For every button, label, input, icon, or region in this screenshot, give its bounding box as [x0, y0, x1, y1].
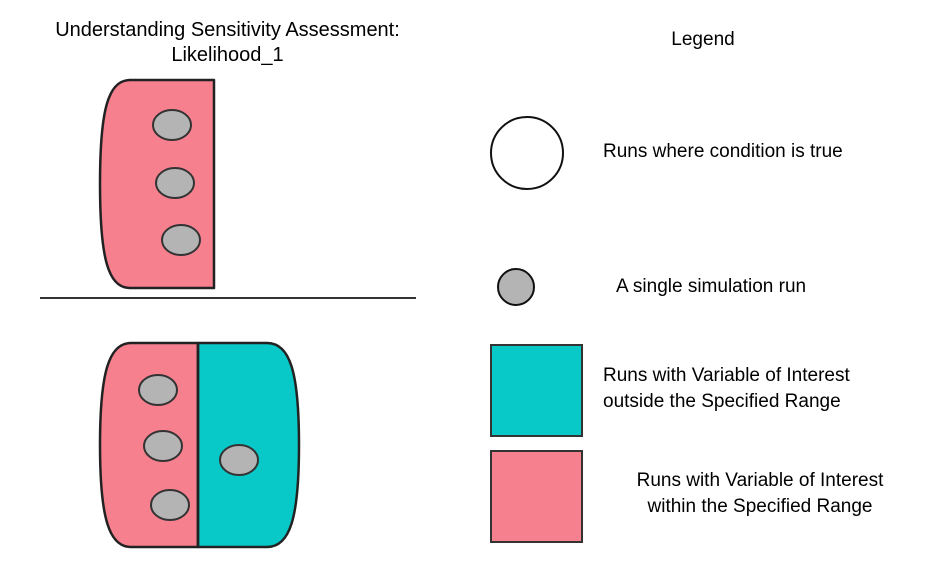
pink-square-icon: [490, 450, 583, 543]
simulation-run-dot: [156, 168, 194, 198]
simulation-run-dot: [151, 490, 189, 520]
simulation-run-dot: [220, 445, 258, 475]
legend-item-condition-true: Runs where condition is true: [470, 116, 936, 196]
hollow-circle-icon: [490, 116, 564, 190]
legend-title: Legend: [470, 28, 936, 51]
cyan-square-icon: [490, 344, 583, 437]
diagram-panel: Understanding Sensitivity Assessment: Li…: [0, 0, 470, 570]
legend-item-label: Runs where condition is true: [603, 139, 843, 165]
legend-item-within-range: Runs with Variable of Interest within th…: [470, 450, 936, 543]
legend-item-label: A single simulation run: [616, 274, 806, 300]
grey-circle-icon: [497, 268, 535, 306]
legend-item-label: Runs with Variable of Interest outside t…: [603, 363, 850, 415]
outside-range-half: [198, 343, 299, 547]
sensitivity-diagram: [0, 0, 470, 570]
legend-panel: Legend Runs where condition is true A si…: [470, 0, 936, 570]
simulation-run-dot: [139, 375, 177, 405]
legend-item-single-run: A single simulation run: [470, 268, 936, 310]
simulation-run-dot: [144, 431, 182, 461]
simulation-run-dot: [153, 110, 191, 140]
legend-item-outside-range: Runs with Variable of Interest outside t…: [470, 344, 936, 438]
legend-item-label: Runs with Variable of Interest within th…: [595, 468, 925, 520]
simulation-run-dot: [162, 225, 200, 255]
